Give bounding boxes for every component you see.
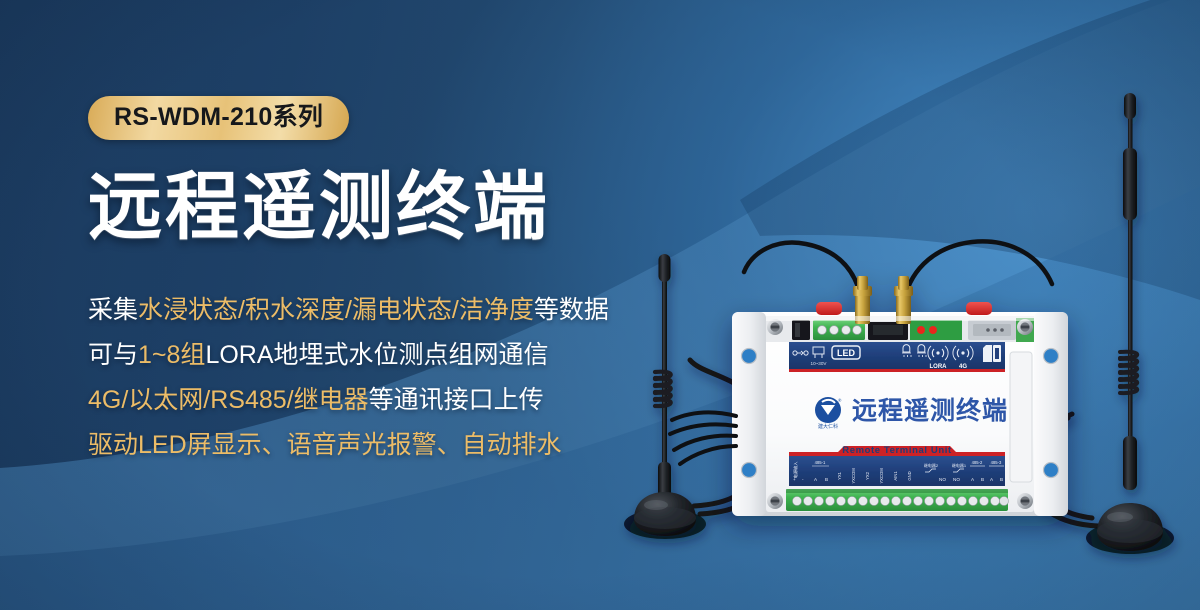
svg-text:485-2: 485-2 bbox=[972, 460, 983, 465]
product-image: 10~30V LED LOR bbox=[0, 0, 1200, 610]
svg-text:B: B bbox=[825, 477, 828, 482]
led-label: LED bbox=[837, 348, 856, 358]
svg-text:+: + bbox=[793, 477, 796, 482]
device-subtitle: Remote Terminal Unit bbox=[842, 445, 952, 456]
side-recess-panel bbox=[1010, 352, 1032, 482]
top-connector-row bbox=[766, 276, 1034, 342]
svg-text:NO: NO bbox=[939, 477, 946, 482]
svg-text:YX2: YX2 bbox=[865, 471, 870, 480]
power-connector bbox=[792, 320, 810, 340]
status-led-red bbox=[929, 326, 937, 334]
red-protective-cap bbox=[966, 302, 992, 315]
cable-bundle-left bbox=[670, 413, 736, 464]
svg-text:YX1: YX1 bbox=[837, 471, 842, 480]
svg-text:电源输入: 电源输入 bbox=[792, 461, 799, 479]
power-range-label: 10~30V bbox=[811, 361, 828, 366]
cellular-label: 4G bbox=[959, 364, 967, 370]
status-led-red bbox=[917, 326, 925, 334]
svg-text:继电器1: 继电器1 bbox=[952, 462, 967, 468]
device-body: 10~30V LED LOR bbox=[732, 276, 1068, 516]
mounting-flange-left bbox=[732, 312, 766, 516]
svg-text:YXCOM: YXCOM bbox=[851, 468, 856, 484]
lora-label: LORA bbox=[930, 364, 948, 370]
svg-text:GND: GND bbox=[907, 471, 912, 480]
device-illustration: 10~30V LED LOR bbox=[0, 0, 1200, 610]
svg-text:B: B bbox=[1000, 477, 1003, 482]
svg-text:继电器2: 继电器2 bbox=[924, 462, 939, 468]
svg-text:AIN1: AIN1 bbox=[893, 471, 898, 481]
bottom-terminal-block bbox=[786, 489, 1009, 511]
sim-card-icon bbox=[983, 345, 1001, 362]
mounting-flange-right bbox=[1034, 312, 1068, 516]
product-banner: RS-WDM-210系列 远程遥测终端 采集水浸状态/积水深度/漏电状态/洁净度… bbox=[0, 0, 1200, 610]
brand-logo-text: 建大仁科 bbox=[818, 423, 838, 430]
red-protective-cap bbox=[816, 302, 842, 315]
svg-text:485-1: 485-1 bbox=[815, 460, 826, 465]
svg-text:B: B bbox=[981, 477, 984, 482]
device-brand-text: 远程遥测终端 bbox=[852, 396, 1008, 425]
svg-text:485-3: 485-3 bbox=[991, 460, 1002, 465]
label-top-strip: 10~30V LED LOR bbox=[789, 342, 1005, 372]
svg-text:NO: NO bbox=[953, 477, 960, 482]
svg-text:YXCOM: YXCOM bbox=[879, 468, 884, 484]
